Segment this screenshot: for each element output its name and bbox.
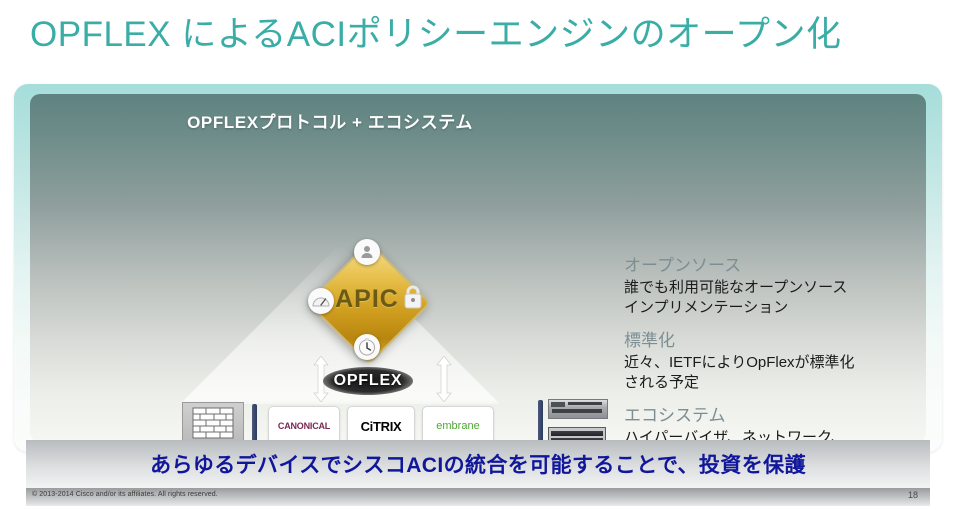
panel-heading: OPFLEXプロトコル + エコシステム xyxy=(30,108,630,133)
opflex-protocol-badge: OPFLEX xyxy=(323,367,413,395)
rack-slot xyxy=(551,431,603,436)
double-arrow-up-down-icon-right xyxy=(436,356,452,402)
apic-node: APIC xyxy=(312,246,422,356)
bottom-banner-text: あらゆるデバイスでシスコACIの統合を可能することで、投資を保護 xyxy=(150,449,806,479)
connector-rail-left xyxy=(252,404,257,442)
partner-logo-grid: CANONICAL CiTRIX embrane 5 IBM xyxy=(268,406,534,442)
connector-rail-right xyxy=(538,400,543,442)
clock-icon xyxy=(354,334,380,360)
left-device-column: L4-7 DEVICE HYPERVISOR SWITCH xyxy=(182,402,244,442)
diagram-panel: OPFLEXプロトコル + エコシステム APIC xyxy=(30,94,926,442)
section-open-source: オープンソース 誰でも利用可能なオープンソース インプリメンテーション xyxy=(624,254,926,318)
logo-canonical[interactable]: CANONICAL xyxy=(268,406,340,442)
page-number: 18 xyxy=(908,490,918,500)
rack-server-icon xyxy=(548,399,608,419)
section-heading: オープンソース xyxy=(624,254,926,277)
copyright-text: © 2013-2014 Cisco and/or its affiliates.… xyxy=(32,491,218,498)
logo-embrane-label: embrane xyxy=(436,420,479,432)
footer-bar: © 2013-2014 Cisco and/or its affiliates.… xyxy=(26,488,930,506)
section-ecosystem: エコシステム ハイパーバイザ、ネットワーク、 L4-7を含む、拡大を続ける広範な… xyxy=(624,404,926,442)
logo-citrix-label: CiTRIX xyxy=(361,419,402,434)
person-icon xyxy=(354,239,380,265)
page-title: OPFLEX によるACIポリシーエンジンのオープン化 xyxy=(30,6,842,57)
network-rack-column xyxy=(548,399,610,442)
l4-7-device-icon xyxy=(192,407,234,439)
bottom-banner: あらゆるデバイスでシスコACIの統合を可能することで、投資を保護 xyxy=(26,440,930,488)
logo-row-1: CANONICAL CiTRIX embrane xyxy=(268,406,534,442)
section-heading: エコシステム xyxy=(624,404,926,427)
logo-citrix[interactable]: CiTRIX xyxy=(347,406,415,442)
feature-text-column: オープンソース 誰でも利用可能なオープンソース インプリメンテーション 標準化 … xyxy=(624,254,926,442)
l4-7-device: L4-7 DEVICE xyxy=(182,402,244,442)
section-standardization: 標準化 近々、IETFによりOpFlexが標準化 される予定 xyxy=(624,329,926,393)
logo-canonical-label: CANONICAL xyxy=(278,421,330,431)
section-body: 近々、IETFによりOpFlexが標準化 される予定 xyxy=(624,353,926,393)
logo-embrane[interactable]: embrane xyxy=(422,406,494,442)
section-body: 誰でも利用可能なオープンソース インプリメンテーション xyxy=(624,278,926,318)
lock-icon xyxy=(400,284,426,310)
gauge-icon xyxy=(308,288,334,314)
section-heading: 標準化 xyxy=(624,329,926,352)
